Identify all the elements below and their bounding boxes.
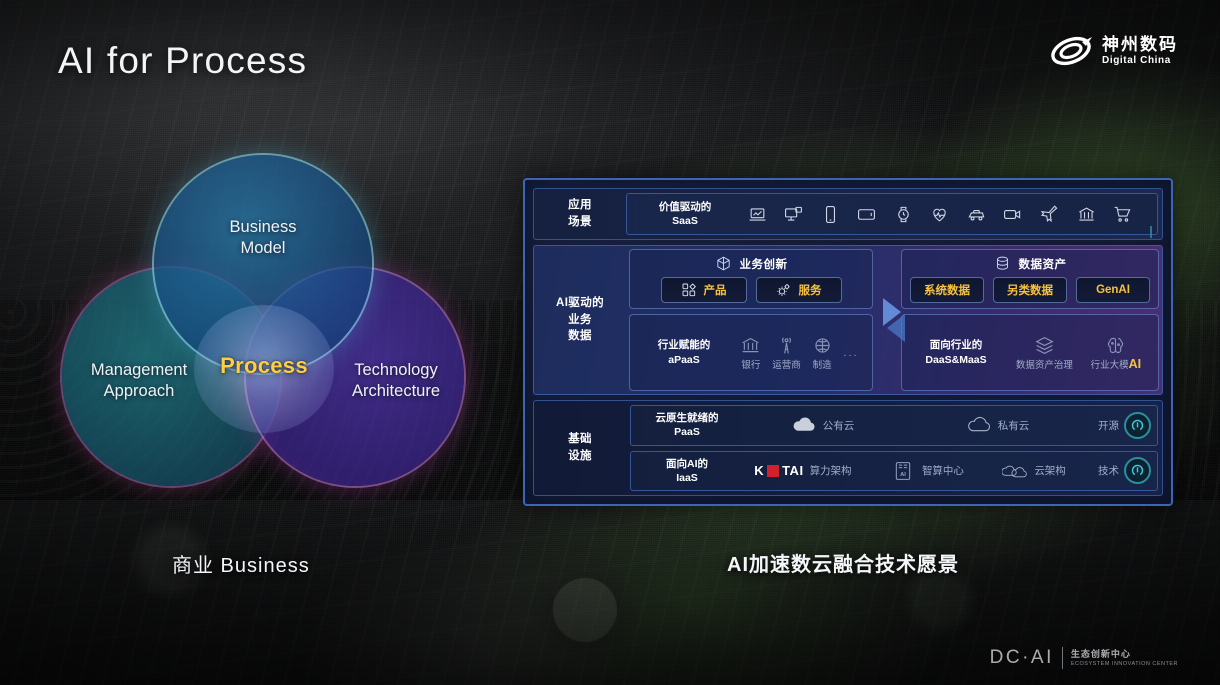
business-innovation-header: 业务创新: [638, 255, 864, 272]
chip-service[interactable]: 服务: [756, 277, 842, 303]
industry-manufacturing-label: 制造: [813, 357, 832, 371]
laptop-icon[interactable]: [748, 205, 767, 224]
band-infrastructure: 基础 设施 云原生就绪的PaaS 公有云 私有云: [533, 400, 1163, 496]
gear-globe-icon: [812, 335, 833, 356]
industry-carrier-label: 运营商: [772, 357, 801, 371]
multi-cloud-icon: [1002, 461, 1028, 481]
public-cloud-label: 公有云: [823, 418, 855, 433]
dcai-divider: [1062, 647, 1063, 669]
kuntai-square-mark: [767, 465, 779, 477]
ai-compute-center[interactable]: AI 智算中心: [890, 461, 964, 481]
application-scenarios-row: 价值驱动的SaaS: [626, 193, 1158, 235]
brand-logo: 神州数码 Digital China: [1049, 34, 1178, 68]
private-cloud-label: 私有云: [998, 418, 1030, 433]
desktop-monitor-icon[interactable]: [784, 205, 803, 224]
smartphone-icon[interactable]: [821, 205, 840, 224]
swoosh-logo-icon: [1049, 34, 1093, 68]
chip-alternative-data-label: 另类数据: [1007, 282, 1053, 298]
industry-bank-label: 银行: [741, 357, 760, 371]
band-label-infrastructure: 基础 设施: [534, 401, 626, 495]
paas-items: 公有云 私有云: [735, 415, 1149, 435]
svg-text:AI: AI: [900, 472, 906, 478]
data-asset-chips: 系统数据 另类数据 GenAI: [910, 277, 1150, 303]
chip-product-label: 产品: [704, 282, 727, 298]
video-camera-icon[interactable]: [1003, 205, 1022, 224]
daas-maas-box: 面向行业的DaaS&MaaS 数据资产治理 行业大模AI: [901, 314, 1159, 391]
shapes-icon: [681, 282, 697, 298]
band-application-scenarios: 应用 场景 价值驱动的SaaS: [533, 188, 1163, 240]
page-title: AI for Process: [58, 40, 307, 82]
band-label-application: 应用 场景: [534, 189, 626, 239]
chip-genai-label: GenAI: [1096, 284, 1130, 296]
business-innovation-title: 业务创新: [740, 256, 788, 272]
dcai-mark: DC·AI: [990, 647, 1054, 669]
apaas-tag: 行业赋能的aPaaS: [638, 338, 730, 366]
ai-datacenter-icon: AI: [890, 461, 916, 481]
open-source-label: 开源: [1098, 418, 1119, 433]
open-source-glyph-icon: [1130, 463, 1145, 478]
dcai-name-cn: 生态创新中心: [1071, 649, 1178, 659]
open-source-ring-icon: [1124, 412, 1151, 439]
iaas-row: 面向AI的IaaS K TAI 算力架构 AI 智算中心: [630, 451, 1158, 492]
caption-left: 商业 Business: [172, 549, 310, 578]
kuntai-brand-b: TAI: [782, 463, 803, 478]
technology-label: 技术: [1098, 463, 1119, 478]
kuntai-brand-a: K: [754, 463, 764, 478]
chip-product[interactable]: 产品: [661, 277, 747, 303]
venn-label-management: ManagementApproach: [54, 360, 224, 401]
daas-maas-tag: 面向行业的DaaS&MaaS: [910, 338, 1002, 366]
band-ai-driven-business-data: AI驱动的 业务 数据 业务创新 产品: [533, 245, 1163, 395]
car-icon[interactable]: [967, 205, 986, 224]
paas-tag: 云原生就绪的PaaS: [639, 411, 735, 439]
venn-diagram: ManagementApproach TechnologyArchitectur…: [62, 155, 462, 510]
smartwatch-icon[interactable]: [894, 205, 913, 224]
venn-circle-business: BusinessModel: [154, 155, 372, 373]
industry-large-model-label: 行业大模AI: [1091, 357, 1142, 371]
architecture-panel: 应用 场景 价值驱动的SaaS: [523, 178, 1173, 506]
business-innovation-column: 业务创新 产品 服务 行业赋能的: [629, 249, 887, 391]
apaas-box: 行业赋能的aPaaS 银行 运营商 制造: [629, 314, 873, 391]
chip-system-data[interactable]: 系统数据: [910, 277, 984, 303]
dcai-name-en: ECOSYSTEM INNOVATION CENTER: [1071, 661, 1178, 667]
cloud-filled-icon: [791, 415, 817, 435]
industry-bank[interactable]: 银行: [740, 335, 761, 371]
data-asset-header: 数据资产: [910, 255, 1150, 272]
open-source-ring-icon: [1124, 457, 1151, 484]
brand-name-en: Digital China: [1102, 56, 1178, 66]
airplane-icon[interactable]: [1040, 205, 1059, 224]
data-asset-column: 数据资产 系统数据 另类数据 GenAI: [887, 249, 1159, 391]
saas-tag: 价值驱动的SaaS: [637, 200, 733, 228]
paas-row: 云原生就绪的PaaS 公有云 私有云 开源: [630, 405, 1158, 446]
cloud-architecture-label: 云架构: [1034, 463, 1066, 478]
industry-large-model[interactable]: 行业大模AI: [1091, 335, 1142, 371]
brand-name-cn: 神州数码: [1102, 36, 1178, 53]
gears-icon: [776, 282, 792, 298]
private-cloud[interactable]: 私有云: [966, 415, 1030, 435]
chip-genai[interactable]: GenAI: [1076, 277, 1150, 303]
open-source-badge[interactable]: 开源: [1098, 412, 1151, 439]
caption-right: AI加速数云融合技术愿景: [727, 548, 959, 577]
iaas-tag: 面向AI的IaaS: [639, 457, 735, 485]
tablet-icon[interactable]: [857, 205, 876, 224]
public-cloud[interactable]: 公有云: [791, 415, 855, 435]
cube-network-icon: [715, 255, 732, 272]
chip-service-label: 服务: [799, 282, 822, 298]
heartbeat-icon[interactable]: [930, 205, 949, 224]
venn-label-technology: TechnologyArchitecture: [306, 360, 486, 401]
kuntai-logo-icon: K TAI: [754, 463, 803, 478]
data-governance[interactable]: 数据资产治理: [1016, 335, 1073, 371]
technology-badge[interactable]: 技术: [1098, 457, 1151, 484]
data-asset-box: 数据资产 系统数据 另类数据 GenAI: [901, 249, 1159, 309]
compute-architecture-label: 算力架构: [810, 463, 852, 478]
open-source-glyph-icon: [1130, 418, 1145, 433]
antenna-tower-icon: [776, 335, 797, 356]
footer-watermark: DC·AI 生态创新中心 ECOSYSTEM INNOVATION CENTER: [990, 647, 1178, 669]
industry-carrier[interactable]: 运营商: [772, 335, 801, 371]
iaas-items: K TAI 算力架构 AI 智算中心 云架构: [735, 461, 1149, 481]
compute-architecture[interactable]: K TAI 算力架构: [754, 463, 851, 478]
data-asset-title: 数据资产: [1019, 256, 1067, 272]
layered-data-icon: [1034, 335, 1055, 356]
venn-center-label: Process: [202, 353, 326, 379]
daas-maas-items: 数据资产治理 行业大模AI: [1007, 335, 1150, 371]
chip-system-data-label: 系统数据: [924, 282, 970, 298]
shopping-cart-icon[interactable]: [1113, 205, 1132, 224]
data-governance-label: 数据资产治理: [1016, 357, 1073, 371]
industry-manufacturing[interactable]: 制造: [812, 335, 833, 371]
cloud-outline-icon: [966, 415, 992, 435]
bank-icon[interactable]: [1077, 205, 1096, 224]
venn-label-business: BusinessModel: [154, 217, 372, 258]
bank-icon: [740, 335, 761, 356]
band-label-ai-driven: AI驱动的 业务 数据: [534, 246, 626, 394]
database-icon: [994, 255, 1011, 272]
chip-alternative-data[interactable]: 另类数据: [993, 277, 1067, 303]
badge-connector: [1150, 226, 1152, 238]
business-innovation-chips: 产品 服务: [638, 277, 864, 303]
industry-ellipsis: ...: [843, 347, 858, 359]
scenario-icon-strip: [733, 205, 1147, 224]
ai-compute-center-label: 智算中心: [922, 463, 964, 478]
cloud-architecture[interactable]: 云架构: [1002, 461, 1066, 481]
business-innovation-box: 业务创新 产品 服务: [629, 249, 873, 309]
brain-circuit-icon: [1105, 335, 1126, 356]
apaas-industry-items: 银行 运营商 制造 ...: [735, 335, 864, 371]
